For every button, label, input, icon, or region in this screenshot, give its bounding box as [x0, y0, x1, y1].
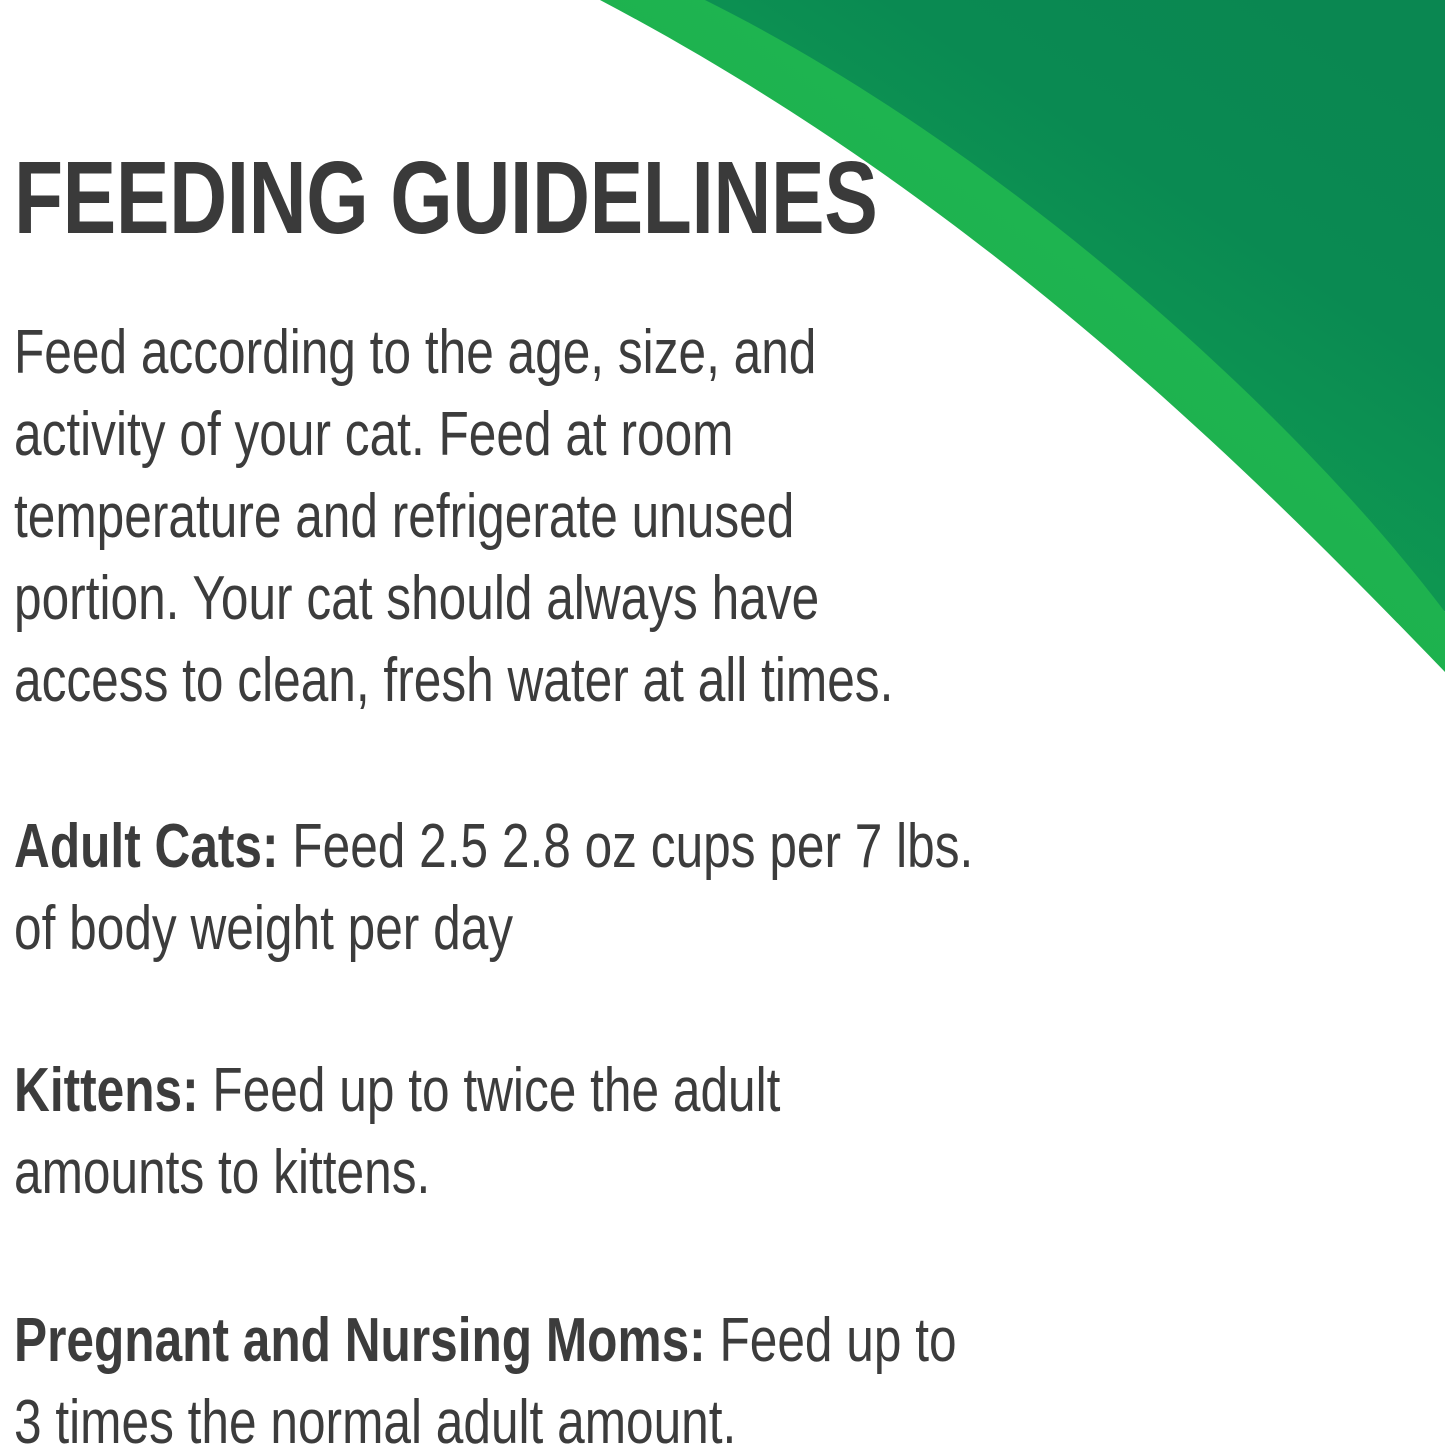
feeding-guidelines-panel: FEEDING GUIDELINES Feed according to the… — [0, 0, 1445, 1454]
adult-cats-line-2: of body weight per day — [14, 888, 973, 970]
intro-paragraph: Feed according to the age, size, and act… — [14, 312, 893, 722]
kittens-line-1: Kittens: Feed up to twice the adult — [14, 1050, 780, 1132]
pregnant-nursing-moms-paragraph: Pregnant and Nursing Moms: Feed up to 3 … — [14, 1300, 957, 1454]
kittens-paragraph: Kittens: Feed up to twice the adult amou… — [14, 1050, 780, 1214]
adult-cats-paragraph: Adult Cats: Feed 2.5 2.8 oz cups per 7 l… — [14, 806, 973, 970]
kittens-text-1: Feed up to twice the adult — [199, 1056, 781, 1125]
kittens-label: Kittens: — [14, 1056, 199, 1125]
kittens-line-2: amounts to kittens. — [14, 1132, 780, 1214]
adult-cats-label: Adult Cats: — [14, 812, 279, 881]
intro-line-5: access to clean, fresh water at all time… — [14, 640, 893, 722]
moms-label: Pregnant and Nursing Moms: — [14, 1306, 706, 1375]
intro-line-2: activity of your cat. Feed at room — [14, 394, 893, 476]
intro-line-4: portion. Your cat should always have — [14, 558, 893, 640]
adult-cats-text-1: Feed 2.5 2.8 oz cups per 7 lbs. — [279, 812, 974, 881]
moms-line-1: Pregnant and Nursing Moms: Feed up to — [14, 1300, 957, 1382]
adult-cats-line-1: Adult Cats: Feed 2.5 2.8 oz cups per 7 l… — [14, 806, 973, 888]
moms-text-1: Feed up to — [706, 1306, 957, 1375]
page-title: FEEDING GUIDELINES — [14, 146, 877, 249]
moms-line-2: 3 times the normal adult amount. — [14, 1382, 957, 1454]
intro-line-3: temperature and refrigerate unused — [14, 476, 893, 558]
intro-line-1: Feed according to the age, size, and — [14, 312, 893, 394]
